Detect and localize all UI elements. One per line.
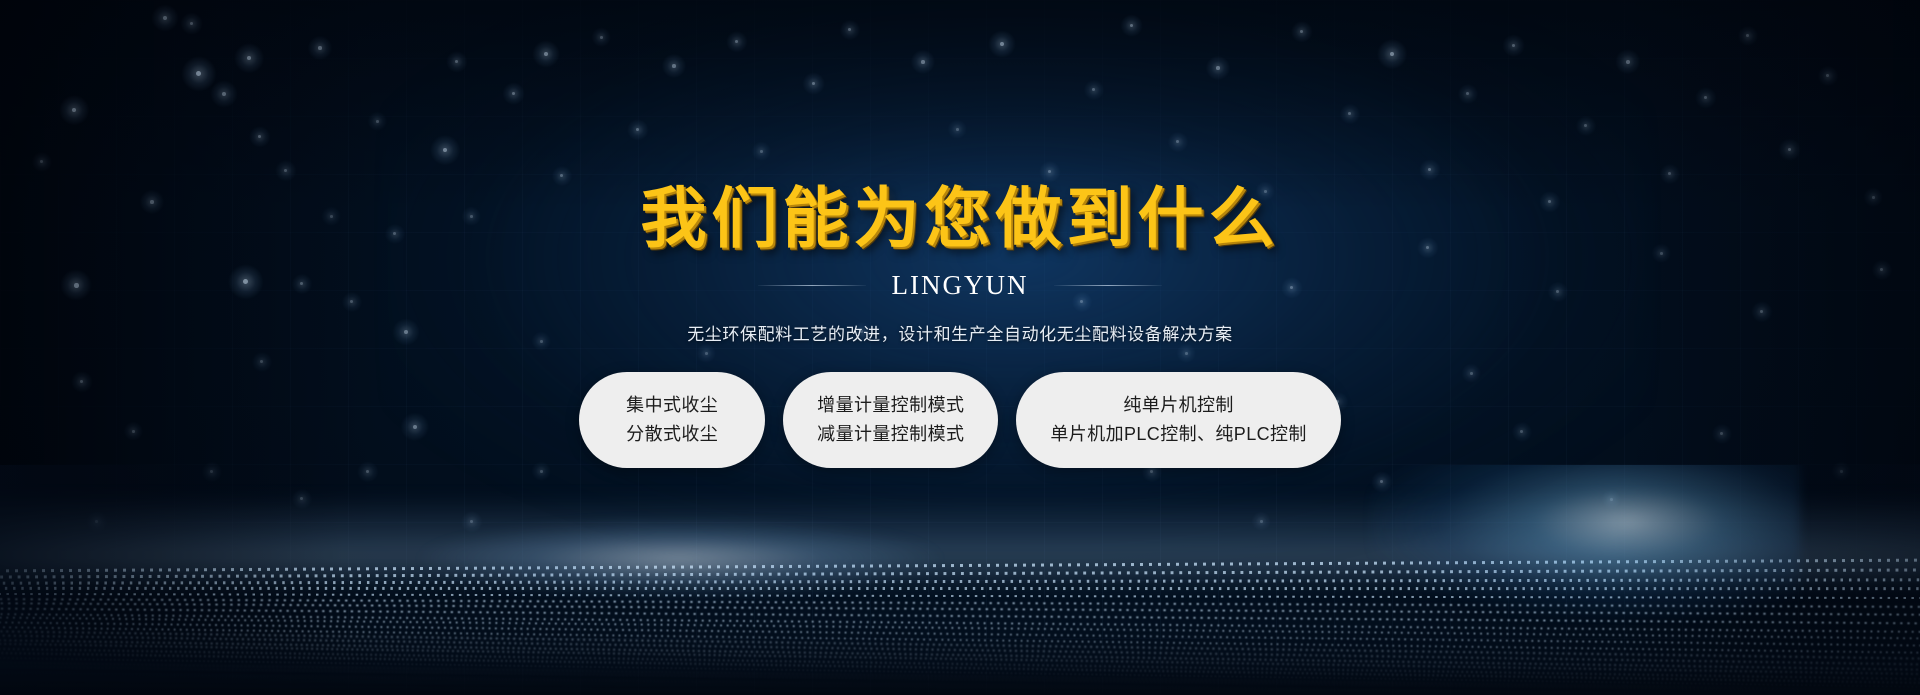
divider-line-right [1054, 285, 1162, 286]
pill-line: 减量计量控制模式 [817, 420, 964, 449]
pill-line: 纯单片机控制 [1050, 391, 1306, 420]
divider-line-left [758, 285, 866, 286]
pill-line: 集中式收尘 [613, 391, 731, 420]
feature-pill-control-system[interactable]: 纯单片机控制 单片机加PLC控制、纯PLC控制 [1016, 372, 1340, 468]
page-title: 我们能为您做到什么 [641, 186, 1280, 252]
feature-pill-metering-mode[interactable]: 增量计量控制模式 减量计量控制模式 [783, 372, 998, 468]
hero-banner: 我们能为您做到什么 LINGYUN 无尘环保配料工艺的改进，设计和生产全自动化无… [0, 0, 1920, 695]
feature-pill-list: 集中式收尘 分散式收尘 增量计量控制模式 减量计量控制模式 纯单片机控制 单片机… [579, 372, 1341, 468]
pill-line: 分散式收尘 [613, 420, 731, 449]
subtitle-row: LINGYUN [758, 270, 1163, 301]
pill-line: 增量计量控制模式 [817, 391, 964, 420]
banner-content: 我们能为您做到什么 LINGYUN 无尘环保配料工艺的改进，设计和生产全自动化无… [0, 0, 1920, 695]
pill-line: 单片机加PLC控制、纯PLC控制 [1050, 420, 1306, 449]
feature-pill-dust-collection[interactable]: 集中式收尘 分散式收尘 [579, 372, 765, 468]
description-text: 无尘环保配料工艺的改进，设计和生产全自动化无尘配料设备解决方案 [687, 320, 1233, 345]
brand-name: LINGYUN [892, 270, 1029, 301]
